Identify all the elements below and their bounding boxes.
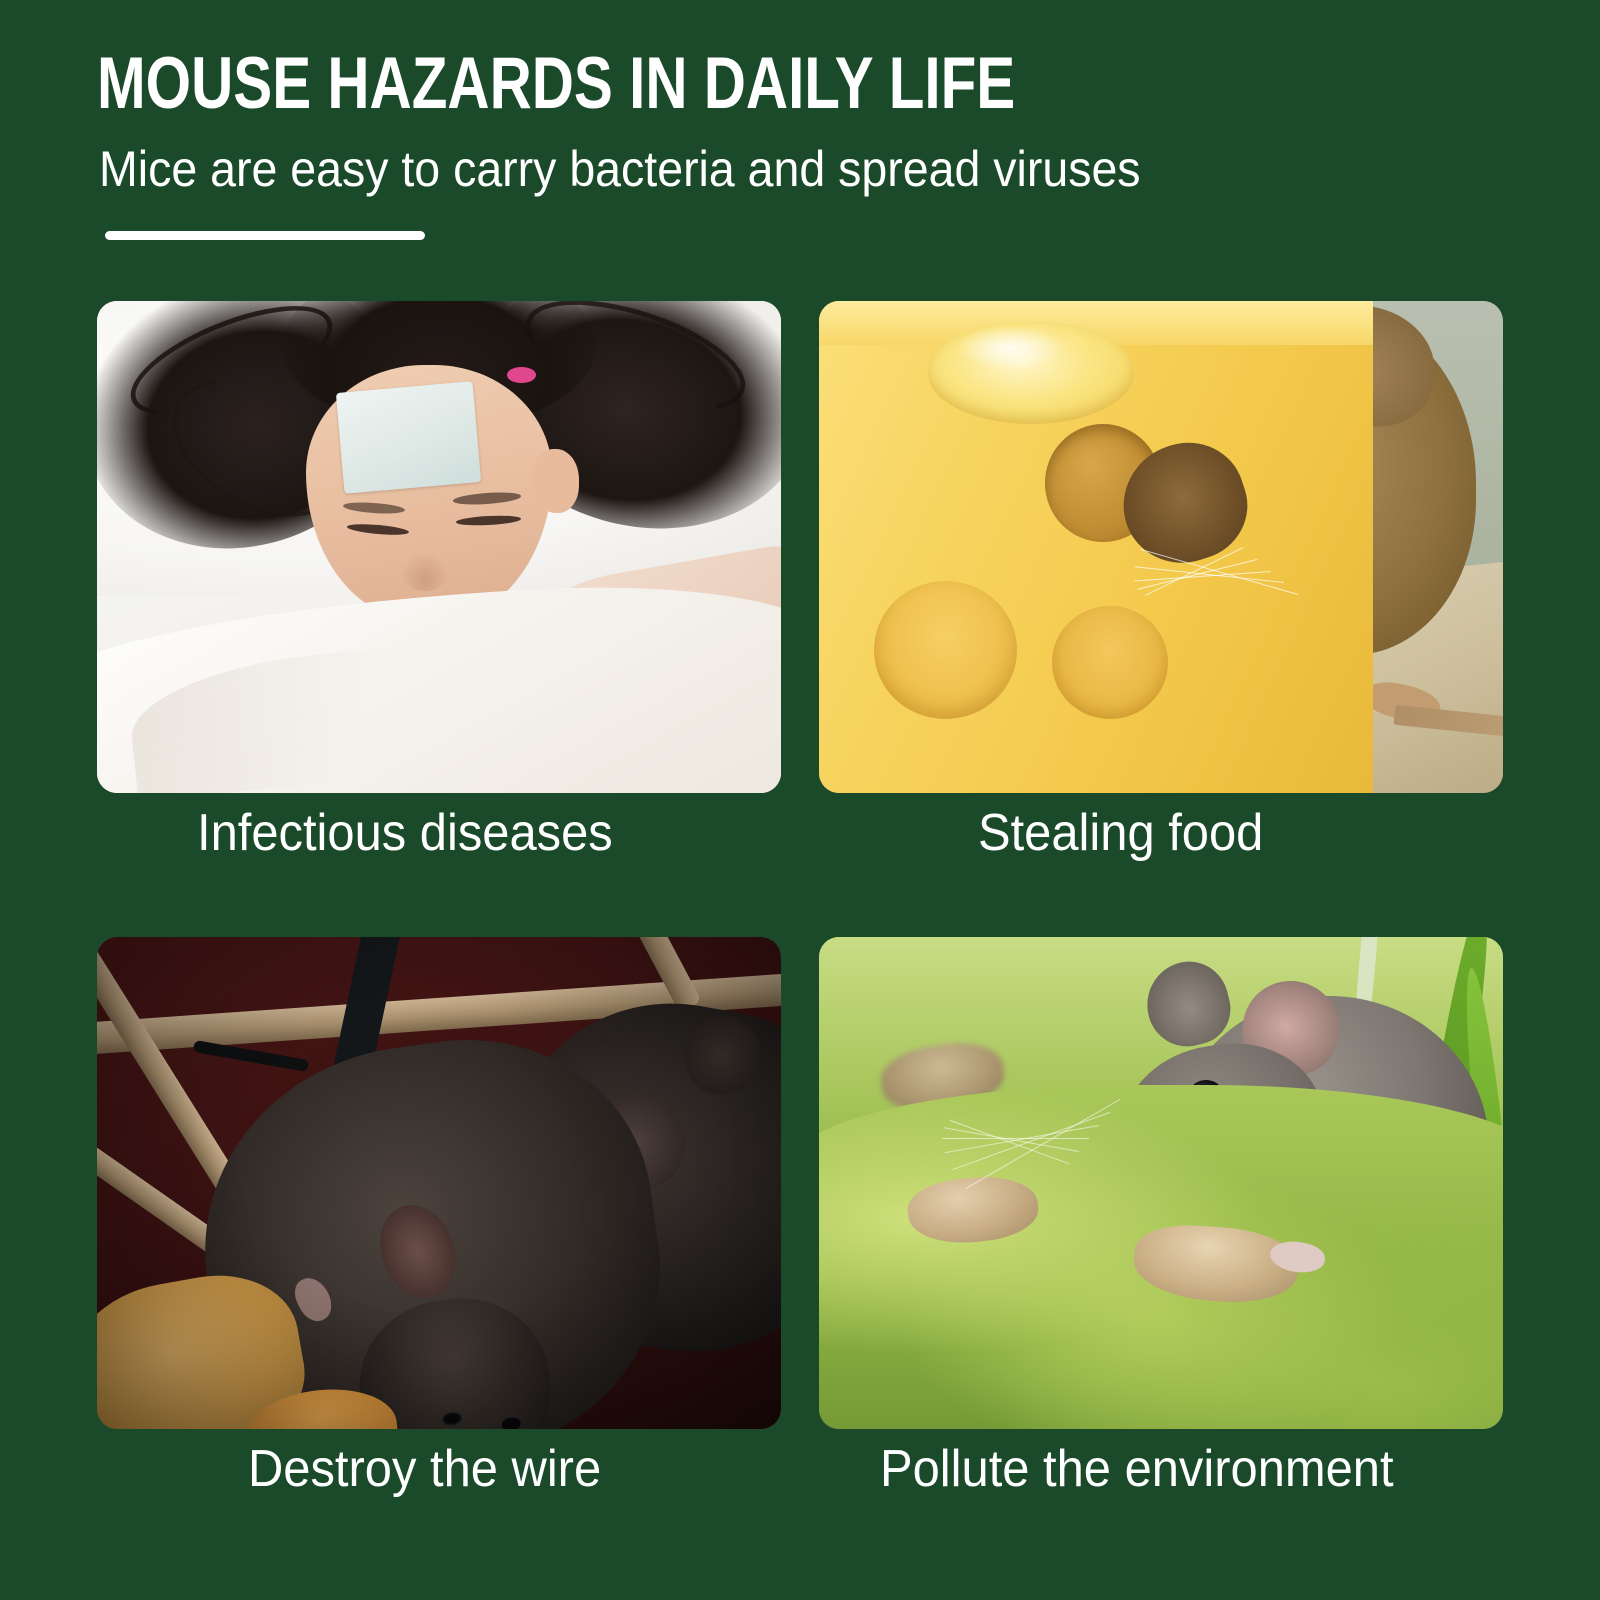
caption-infectious-diseases: Infectious diseases <box>197 805 613 861</box>
photo-destroy-the-wire <box>97 937 781 1429</box>
cheese-highlight <box>956 326 1065 370</box>
header-block: MOUSE HAZARDS IN DAILY LIFE Mice are eas… <box>97 46 1517 198</box>
photo3-vignette <box>97 937 781 1429</box>
title-underline-rule <box>105 231 425 240</box>
photo-stealing-food <box>819 301 1503 793</box>
mouse-whisker <box>942 1138 1089 1139</box>
photo-infectious-diseases <box>97 301 781 793</box>
caption-stealing-food: Stealing food <box>978 805 1263 861</box>
caption-destroy-the-wire: Destroy the wire <box>248 1441 601 1497</box>
photo-pollute-the-environment <box>819 937 1503 1429</box>
caption-pollute-the-environment: Pollute the environment <box>880 1441 1394 1497</box>
page-subtitle: Mice are easy to carry bacteria and spre… <box>99 140 1418 198</box>
cheese-hole-4 <box>1052 606 1168 719</box>
child-ear <box>531 449 579 513</box>
page-title: MOUSE HAZARDS IN DAILY LIFE <box>97 46 1233 122</box>
fever-cooling-patch <box>336 381 481 493</box>
cheese-hole-3 <box>874 581 1018 719</box>
